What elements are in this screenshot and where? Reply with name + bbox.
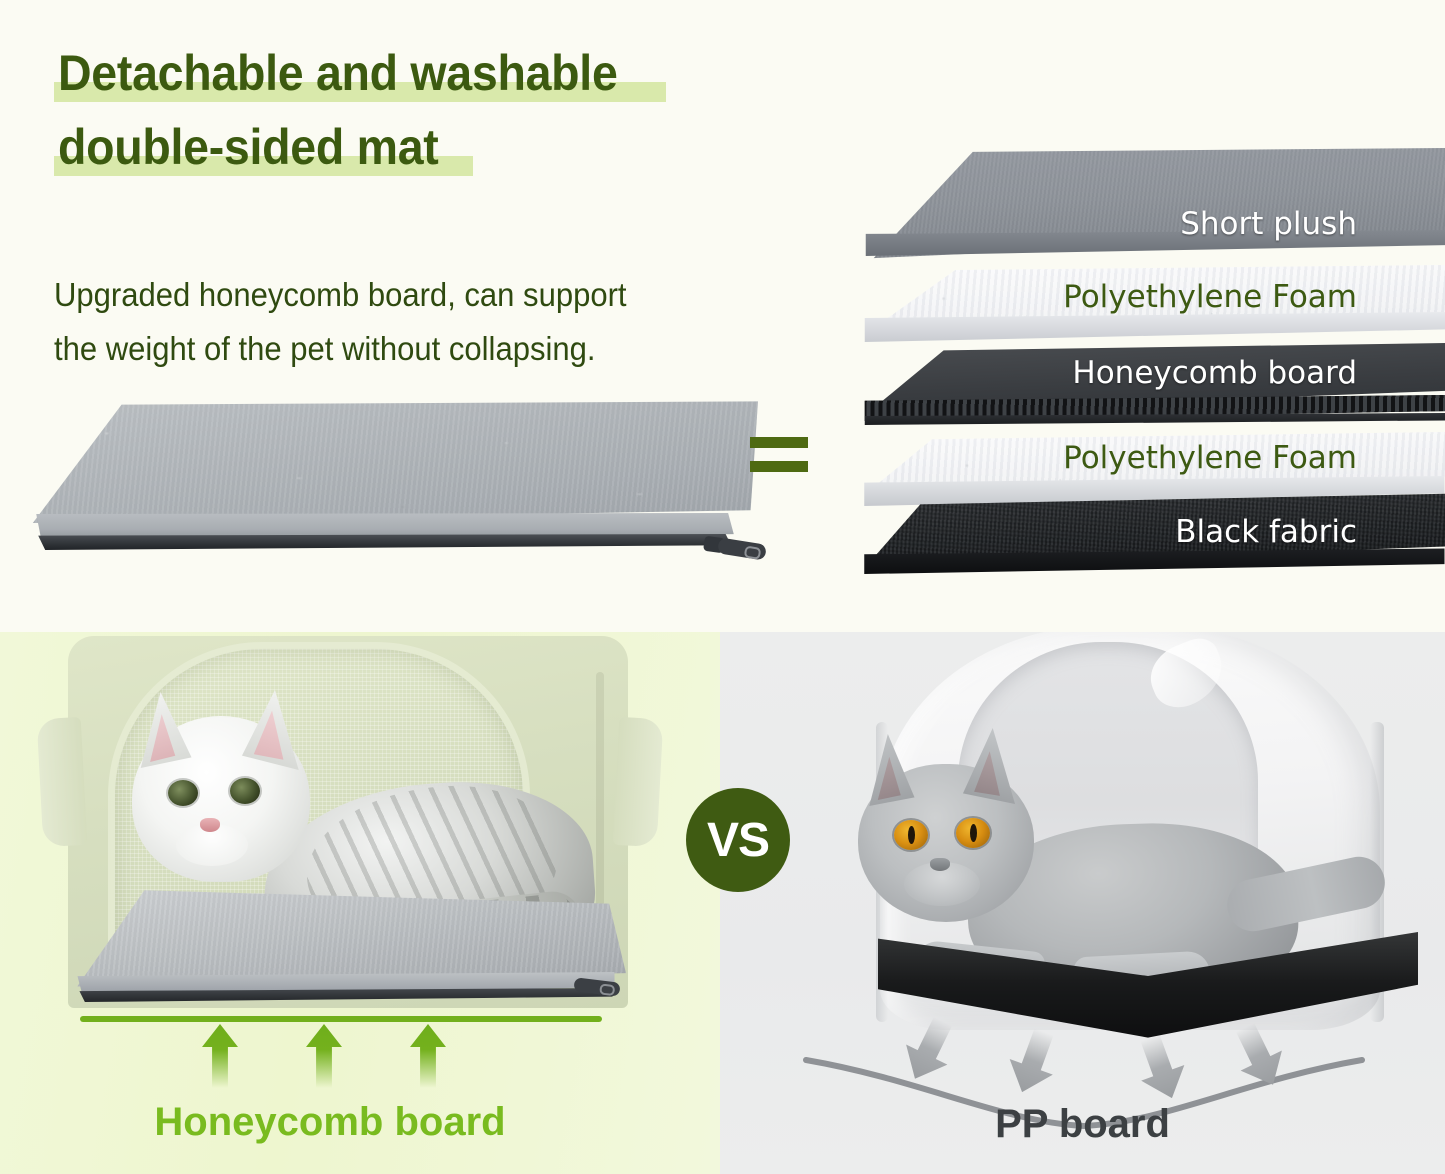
layer-4-label: Polyethylene Foam bbox=[1063, 440, 1357, 476]
title-line-2: double-sided mat bbox=[58, 110, 467, 184]
mat-zipper-edge bbox=[34, 534, 734, 550]
subtitle-text: Upgraded honeycomb board, can support th… bbox=[54, 268, 627, 376]
title-text-2: double-sided mat bbox=[58, 110, 438, 184]
pp-board bbox=[878, 932, 1418, 1052]
flat-support-line bbox=[80, 1016, 602, 1022]
comparison-panel-honeycomb: Honeycomb board bbox=[0, 632, 720, 1174]
subtitle: Upgraded honeycomb board, can support th… bbox=[54, 214, 814, 376]
cat2-pupil-right bbox=[970, 824, 977, 842]
cat2-nose bbox=[930, 858, 950, 871]
layer-1-side bbox=[864, 230, 1445, 256]
carrier-handle-right bbox=[613, 717, 664, 847]
equals-bar-bottom bbox=[750, 461, 808, 472]
vs-badge: VS bbox=[686, 788, 790, 892]
product-mat bbox=[18, 395, 758, 585]
layer-polyethylene-foam-top: Polyethylene Foam bbox=[862, 265, 1445, 349]
layer-1-texture bbox=[862, 148, 1445, 276]
cat1-nose bbox=[200, 818, 220, 832]
layer-stack: Short plush Polyethylene Foam Honeycomb … bbox=[862, 140, 1445, 580]
title-line-1: Detachable and washable bbox=[58, 36, 660, 110]
honeycomb-mat bbox=[66, 888, 626, 1024]
cat1-eye-left bbox=[168, 780, 198, 806]
zipper-pull-icon bbox=[717, 537, 767, 560]
comparison-section: Honeycomb board bbox=[0, 632, 1445, 1174]
pp-board-sheen bbox=[878, 932, 1418, 1042]
cat2-pupil-left bbox=[908, 826, 915, 844]
layer-1-label: Short plush bbox=[1180, 206, 1357, 242]
title-block: Detachable and washable double-sided mat bbox=[58, 36, 858, 184]
equals-bar-top bbox=[750, 437, 808, 448]
comparison-panel-pp: PP board bbox=[720, 632, 1445, 1174]
layer-black-fabric: Black fabric bbox=[862, 492, 1445, 580]
title-text-1: Detachable and washable bbox=[58, 36, 618, 110]
top-section: Detachable and washable double-sided mat… bbox=[0, 0, 1445, 632]
infographic-page: Detachable and washable double-sided mat… bbox=[0, 0, 1445, 1174]
equals-icon bbox=[750, 437, 808, 475]
pp-board-caption: PP board bbox=[720, 1102, 1445, 1147]
layer-5-label: Black fabric bbox=[1175, 514, 1357, 550]
carrier-handle-left bbox=[37, 717, 88, 847]
layer-honeycomb-board: Honeycomb board bbox=[862, 343, 1445, 435]
layer-3-label: Honeycomb board bbox=[1072, 355, 1357, 391]
layer-2-label: Polyethylene Foam bbox=[1063, 279, 1357, 315]
cat1-eye-right bbox=[230, 778, 260, 804]
layer-short-plush: Short plush bbox=[862, 148, 1445, 276]
honeycomb-caption: Honeycomb board bbox=[0, 1100, 660, 1145]
